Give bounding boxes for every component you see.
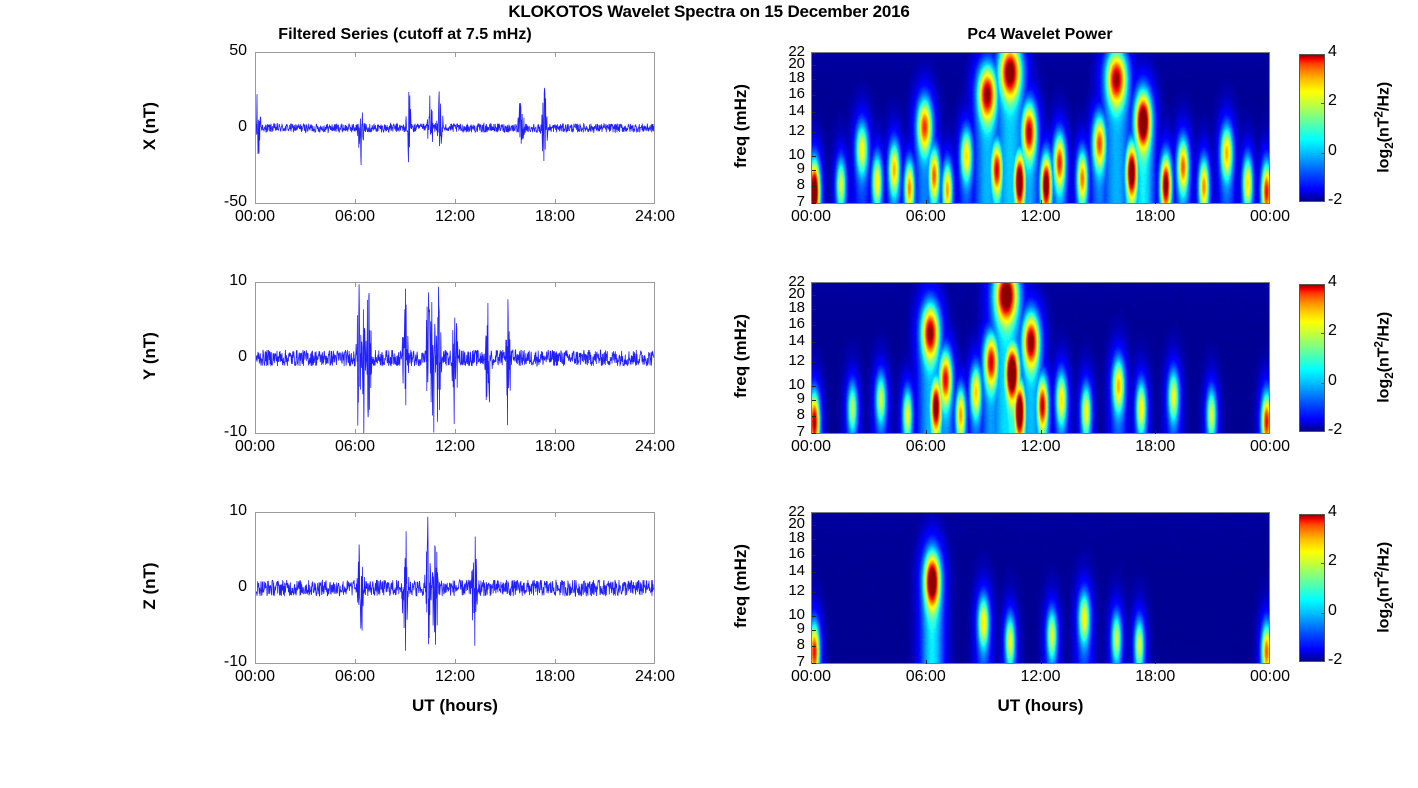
spec-xtick-y-2: 12:00 <box>996 438 1086 456</box>
freq-tickmark <box>812 400 816 401</box>
figure-canvas: KLOKOTOS Wavelet Spectra on 15 December … <box>0 0 1418 788</box>
xtick-z-0: 00:00 <box>210 668 300 686</box>
ylabel-z: Z (nT) <box>140 506 160 666</box>
freq-label-x: freq (mHz) <box>731 46 751 206</box>
colorbar-tick-z-3: -2 <box>1328 651 1354 669</box>
freq-tick-x-8: 8 <box>777 176 805 193</box>
xlabel-spectrogram: UT (hours) <box>811 696 1270 716</box>
freq-tick-z-8: 8 <box>777 636 805 653</box>
right-column-title: Pc4 Wavelet Power <box>810 26 1270 44</box>
spec-xtick-z-2: 12:00 <box>996 668 1086 686</box>
freq-tickmark <box>812 325 816 326</box>
spec-xtick-x-2: 12:00 <box>996 208 1086 226</box>
freq-tickmark <box>812 170 816 171</box>
spec-xtickmark <box>1041 200 1042 204</box>
xtick-y-3: 18:00 <box>510 438 600 456</box>
freq-tick-y-3: 16 <box>777 315 805 332</box>
ytick-y-0: 10 <box>187 272 247 290</box>
xtick-y-2: 12:00 <box>410 438 500 456</box>
spec-xtick-z-1: 06:00 <box>881 668 971 686</box>
colorbar-z <box>1299 514 1325 662</box>
xtick-z-3: 18:00 <box>510 668 600 686</box>
colorbar-tickmark <box>1321 613 1325 614</box>
spec-xtick-z-0: 00:00 <box>766 668 856 686</box>
figure-title: KLOKOTOS Wavelet Spectra on 15 December … <box>0 2 1418 22</box>
freq-tickmark <box>812 295 816 296</box>
colorbar-label-text: log2(nT2/Hz) <box>1376 542 1393 633</box>
ytick-x-1: 0 <box>187 118 247 136</box>
spec-xtick-x-0: 00:00 <box>766 208 856 226</box>
freq-tick-z-4: 14 <box>777 562 805 579</box>
spec-xtickmark <box>926 200 927 204</box>
xlabel-timeseries: UT (hours) <box>205 696 705 716</box>
colorbar-tick-x-1: 2 <box>1328 92 1354 110</box>
spectrogram-z <box>811 512 1270 664</box>
spectrogram-image-z <box>812 513 1269 663</box>
freq-tickmark <box>812 386 816 387</box>
colorbar-label-y: log2(nT2/Hz) <box>1374 277 1397 437</box>
spec-xtick-y-4: 00:00 <box>1225 438 1315 456</box>
freq-tickmark <box>812 362 816 363</box>
colorbar-tickmark <box>1321 563 1325 564</box>
freq-tickmark <box>812 663 816 664</box>
spectrogram-image-x <box>812 53 1269 203</box>
freq-tickmark <box>812 203 816 204</box>
freq-tickmark <box>812 592 816 593</box>
colorbar-tick-z-0: 4 <box>1328 503 1354 521</box>
colorbar-y <box>1299 284 1325 432</box>
freq-tickmark <box>812 572 816 573</box>
colorbar-label-z: log2(nT2/Hz) <box>1374 507 1397 667</box>
freq-tickmark <box>812 112 816 113</box>
freq-tickmark <box>812 646 816 647</box>
xtick-x-0: 00:00 <box>210 208 300 226</box>
spec-xtickmark <box>1155 430 1156 434</box>
spectrogram-image-y <box>812 283 1269 433</box>
ytick-y-1: 0 <box>187 348 247 366</box>
xtick-z-4: 24:00 <box>610 668 700 686</box>
xtick-z-1: 06:00 <box>310 668 400 686</box>
xtick-y-4: 24:00 <box>610 438 700 456</box>
colorbar-x <box>1299 54 1325 202</box>
spec-xtickmark <box>1155 200 1156 204</box>
freq-tickmark <box>812 132 816 133</box>
freq-tickmark <box>812 186 816 187</box>
colorbar-tick-y-1: 2 <box>1328 322 1354 340</box>
spec-xtick-x-1: 06:00 <box>881 208 971 226</box>
colorbar-tick-x-0: 4 <box>1328 43 1354 61</box>
ytick-x-0: 50 <box>187 42 247 60</box>
freq-tickmark <box>812 416 816 417</box>
colorbar-tickmark <box>1321 383 1325 384</box>
freq-tick-z-5: 12 <box>777 582 805 599</box>
colorbar-label-x: log2(nT2/Hz) <box>1374 47 1397 207</box>
freq-tick-x-5: 12 <box>777 122 805 139</box>
freq-tickmark <box>812 342 816 343</box>
colorbar-tickmark <box>1321 333 1325 334</box>
timeseries-trace-z <box>256 513 654 663</box>
xtick-x-4: 24:00 <box>610 208 700 226</box>
spec-xtick-x-4: 00:00 <box>1225 208 1315 226</box>
freq-tickmark <box>812 433 816 434</box>
colorbar-label-text: log2(nT2/Hz) <box>1376 312 1393 403</box>
freq-tickmark <box>812 525 816 526</box>
freq-tickmark <box>812 95 816 96</box>
freq-tickmark <box>812 156 816 157</box>
colorbar-tick-z-2: 0 <box>1328 602 1354 620</box>
colorbar-tick-x-3: -2 <box>1328 191 1354 209</box>
colorbar-tick-y-3: -2 <box>1328 421 1354 439</box>
freq-tick-y-5: 12 <box>777 352 805 369</box>
spec-xtickmark <box>1041 430 1042 434</box>
freq-tickmark <box>812 513 816 514</box>
spectrogram-x <box>811 52 1270 204</box>
xtick-x-1: 06:00 <box>310 208 400 226</box>
timeseries-trace-y <box>256 283 654 433</box>
freq-label-y: freq (mHz) <box>731 276 751 436</box>
colorbar-tick-y-0: 4 <box>1328 273 1354 291</box>
xtick-x-3: 18:00 <box>510 208 600 226</box>
freq-tickmark <box>812 555 816 556</box>
xtick-y-1: 06:00 <box>310 438 400 456</box>
spec-xtick-z-3: 18:00 <box>1110 668 1200 686</box>
spec-xtick-y-1: 06:00 <box>881 438 971 456</box>
spec-xtick-x-3: 18:00 <box>1110 208 1200 226</box>
colorbar-label-text: log2(nT2/Hz) <box>1376 82 1393 173</box>
colorbar-tick-x-2: 0 <box>1328 142 1354 160</box>
timeseries-trace-x <box>256 53 654 203</box>
xtick-y-0: 00:00 <box>210 438 300 456</box>
spec-xtickmark <box>1041 660 1042 664</box>
ylabel-x: X (nT) <box>140 46 160 206</box>
spec-xtick-y-3: 18:00 <box>1110 438 1200 456</box>
freq-tickmark <box>812 539 816 540</box>
freq-tickmark <box>812 283 816 284</box>
colorbar-tickmark <box>1321 103 1325 104</box>
freq-tickmark <box>812 616 816 617</box>
freq-label-z: freq (mHz) <box>731 506 751 666</box>
spec-xtick-y-0: 00:00 <box>766 438 856 456</box>
freq-tickmark <box>812 53 816 54</box>
spec-xtickmark <box>1155 660 1156 664</box>
spec-xtickmark <box>926 430 927 434</box>
spec-xtickmark <box>926 660 927 664</box>
colorbar-tickmark <box>1321 153 1325 154</box>
spectrogram-y <box>811 282 1270 434</box>
freq-tickmark <box>812 630 816 631</box>
freq-tick-y-8: 8 <box>777 406 805 423</box>
colorbar-tick-z-1: 2 <box>1328 552 1354 570</box>
ytick-z-1: 0 <box>187 578 247 596</box>
xtick-x-2: 12:00 <box>410 208 500 226</box>
freq-tickmark <box>812 309 816 310</box>
freq-tickmark <box>812 65 816 66</box>
freq-tick-x-3: 16 <box>777 85 805 102</box>
ytick-z-0: 10 <box>187 502 247 520</box>
freq-tick-x-4: 14 <box>777 102 805 119</box>
freq-tick-y-4: 14 <box>777 332 805 349</box>
ylabel-y: Y (nT) <box>140 276 160 436</box>
freq-tickmark <box>812 79 816 80</box>
colorbar-tick-y-2: 0 <box>1328 372 1354 390</box>
spec-xtick-z-4: 00:00 <box>1225 668 1315 686</box>
xtick-z-2: 12:00 <box>410 668 500 686</box>
freq-tick-z-3: 16 <box>777 545 805 562</box>
